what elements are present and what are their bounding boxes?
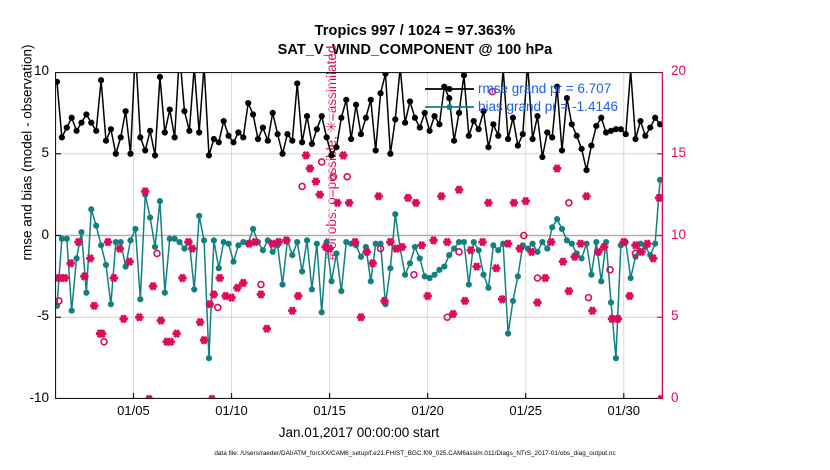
plot-area <box>55 72 663 399</box>
data-point <box>471 118 476 123</box>
obs-assimilated-marker <box>404 194 412 203</box>
data-point <box>295 81 300 86</box>
data-point <box>275 132 280 137</box>
legend-label-bias: bias grand pr = -1.4146 <box>478 99 618 114</box>
data-point <box>505 331 510 336</box>
data-point <box>197 213 202 218</box>
data-point <box>201 238 206 243</box>
data-point <box>182 246 187 251</box>
data-point <box>599 115 604 120</box>
plot-svg <box>55 72 663 399</box>
data-point <box>157 199 162 204</box>
data-point <box>324 135 329 140</box>
data-point <box>133 226 138 231</box>
data-point <box>363 115 368 120</box>
data-point <box>466 133 471 138</box>
obs-assimilated-marker <box>625 292 633 301</box>
data-point <box>452 138 457 143</box>
data-point <box>211 136 216 141</box>
data-point <box>535 114 540 119</box>
obs-assimilated-marker <box>312 177 320 186</box>
data-point <box>447 253 452 258</box>
data-point <box>510 298 515 303</box>
data-point <box>108 302 113 307</box>
obs-possible-marker <box>534 275 540 281</box>
obs-assimilated-marker <box>116 244 124 253</box>
data-point <box>309 141 314 146</box>
obs-assimilated-marker <box>498 295 506 304</box>
obs-assimilated-marker <box>263 324 271 333</box>
x-tick-label: 01/20 <box>398 403 458 418</box>
data-point <box>128 238 133 243</box>
x-tick-label: 01/05 <box>103 403 163 418</box>
data-point <box>486 285 491 290</box>
data-point <box>530 136 535 141</box>
x-tick-label: 01/15 <box>300 403 360 418</box>
data-point <box>280 151 285 156</box>
obs-assimilated-marker <box>251 238 259 247</box>
data-point <box>608 300 613 305</box>
data-point <box>280 282 285 287</box>
data-point <box>432 114 437 119</box>
x-tick-label: 01/30 <box>594 403 654 418</box>
legend-label-rmse: rmse grand pr = 6.707 <box>478 81 611 96</box>
data-point <box>623 132 628 137</box>
legend-marker-sample <box>447 104 453 110</box>
data-point <box>329 153 334 158</box>
obs-assimilated-marker <box>527 247 535 256</box>
data-point <box>594 239 599 244</box>
data-point <box>241 135 246 140</box>
obs-assimilated-marker <box>357 313 365 322</box>
obs-assimilated-marker <box>588 306 596 315</box>
obs-assimilated-marker <box>125 257 133 266</box>
data-point <box>148 215 153 220</box>
data-point <box>368 279 373 284</box>
series-line-bias <box>57 180 660 358</box>
data-point <box>427 275 432 280</box>
data-point <box>628 275 633 280</box>
data-point <box>172 236 177 241</box>
chart-title-line2: SAT_V_WIND_COMPONENT @ 100 hPa <box>0 42 830 58</box>
data-point <box>505 136 510 141</box>
data-point <box>550 135 555 140</box>
data-point <box>618 127 623 132</box>
data-point <box>270 110 275 115</box>
obs-possible-marker <box>585 295 591 301</box>
data-point <box>393 212 398 217</box>
obs-assimilated-marker <box>541 274 549 283</box>
data-point <box>510 115 515 120</box>
data-point <box>206 356 211 361</box>
data-point <box>569 241 574 246</box>
obs-assimilated-marker <box>418 241 426 250</box>
data-point <box>530 241 535 246</box>
data-point <box>339 288 344 293</box>
obs-possible-marker <box>411 272 417 278</box>
data-point <box>496 248 501 253</box>
data-point <box>304 114 309 119</box>
data-point <box>496 133 501 138</box>
data-point <box>236 130 241 135</box>
data-point <box>197 130 202 135</box>
obs-assimilated-marker <box>553 164 561 173</box>
data-point <box>432 272 437 277</box>
data-point <box>246 100 251 105</box>
y2-tick-label: 5 <box>671 308 707 323</box>
data-file-footer: data file: /Users/raeder/DAI/ATM_forcXX/… <box>0 450 830 457</box>
obs-assimilated-marker <box>345 198 353 207</box>
data-point <box>638 118 643 123</box>
data-point <box>260 248 265 253</box>
data-point <box>74 128 79 133</box>
obs-assimilated-marker <box>66 259 74 268</box>
data-point <box>94 223 99 228</box>
obs-assimilated-marker <box>316 190 324 199</box>
data-point <box>437 267 442 272</box>
data-point <box>334 251 339 256</box>
data-point <box>319 310 324 315</box>
obs-assimilated-marker <box>90 301 98 310</box>
y-tick-label: 0 <box>13 227 49 242</box>
data-point <box>255 136 260 141</box>
data-point <box>94 128 99 133</box>
obs-assimilated-marker <box>547 238 555 247</box>
y-tick-label: -5 <box>13 308 49 323</box>
data-point <box>59 135 64 140</box>
obs-assimilated-marker <box>333 198 341 207</box>
figure-root: Tropics 997 / 1024 = 97.363% SAT_V_WIND_… <box>0 0 830 470</box>
data-point <box>378 91 383 96</box>
obs-possible-marker <box>566 200 572 206</box>
obs-assimilated-marker <box>533 298 541 307</box>
obs-possible-marker <box>319 159 325 165</box>
data-point <box>653 241 658 246</box>
data-point <box>89 120 94 125</box>
data-point <box>388 266 393 271</box>
data-point <box>236 243 241 248</box>
data-point <box>422 110 427 115</box>
data-point <box>265 138 270 143</box>
data-point <box>466 282 471 287</box>
y2-tick-label: 10 <box>671 227 707 242</box>
obs-possible-marker <box>215 304 221 310</box>
obs-assimilated-marker <box>461 297 469 306</box>
data-point <box>515 274 520 279</box>
data-point <box>128 151 133 156</box>
obs-assimilated-marker <box>200 336 208 345</box>
data-point <box>69 115 74 120</box>
obs-assimilated-marker <box>288 306 296 315</box>
data-point <box>167 107 172 112</box>
data-point <box>545 130 550 135</box>
data-point <box>216 266 221 271</box>
data-point <box>64 236 69 241</box>
obs-possible-marker <box>456 249 462 255</box>
data-point <box>388 151 393 156</box>
data-point <box>319 114 324 119</box>
data-point <box>476 248 481 253</box>
data-point <box>613 356 618 361</box>
obs-assimilated-marker <box>188 244 196 253</box>
data-point <box>290 253 295 258</box>
data-point <box>250 112 255 117</box>
obs-assimilated-marker <box>210 290 218 299</box>
data-point <box>157 74 162 79</box>
obs-assimilated-marker <box>504 239 512 248</box>
obs-assimilated-marker <box>443 238 451 247</box>
obs-assimilated-marker <box>294 292 302 301</box>
obs-assimilated-marker <box>412 198 420 207</box>
x-tick-label: 01/10 <box>202 403 262 418</box>
y2-tick-label: 15 <box>671 145 707 160</box>
data-point <box>599 279 604 284</box>
obs-assimilated-marker <box>467 246 475 255</box>
data-point <box>300 269 305 274</box>
data-point <box>589 272 594 277</box>
obs-assimilated-marker <box>167 337 175 346</box>
data-point <box>79 120 84 125</box>
data-point <box>285 132 290 137</box>
chart-title-line1: Tropics 997 / 1024 = 97.363% <box>0 23 830 39</box>
data-point <box>309 287 314 292</box>
data-point <box>162 290 167 295</box>
data-point <box>192 287 197 292</box>
data-point <box>491 243 496 248</box>
data-point <box>471 239 476 244</box>
data-point <box>491 122 496 127</box>
data-point <box>545 246 550 251</box>
data-point <box>290 138 295 143</box>
data-point <box>559 148 564 153</box>
data-point <box>407 99 412 104</box>
data-point <box>442 264 447 269</box>
data-point <box>187 128 192 133</box>
data-point <box>226 241 231 246</box>
x-axis-label: Jan.01,2017 00:00:00 start <box>55 425 663 440</box>
data-point <box>113 151 118 156</box>
data-point <box>300 140 305 145</box>
data-point <box>270 249 275 254</box>
obs-assimilated-marker <box>302 151 310 160</box>
obs-assimilated-marker <box>386 238 394 247</box>
obs-assimilated-marker <box>206 300 214 309</box>
obs-assimilated-marker <box>119 315 127 324</box>
obs-assimilated-marker <box>149 282 157 291</box>
data-point <box>84 112 89 117</box>
data-point <box>456 110 461 115</box>
data-point <box>569 122 574 127</box>
data-point <box>108 127 113 132</box>
data-point <box>579 146 584 151</box>
obs-assimilated-marker <box>178 274 186 283</box>
data-point <box>74 256 79 261</box>
obs-possible-marker <box>258 282 264 288</box>
data-point <box>152 244 157 249</box>
data-point <box>79 230 84 235</box>
obs-assimilated-marker <box>104 238 112 247</box>
obs-assimilated-marker <box>559 257 567 266</box>
data-point <box>486 145 491 150</box>
obs-assimilated-marker <box>492 264 500 273</box>
x-tick-label: 01/25 <box>496 403 556 418</box>
y-tick-label: 5 <box>13 145 49 160</box>
y-tick-label: -10 <box>13 390 49 405</box>
data-point <box>226 133 231 138</box>
data-point <box>584 168 589 173</box>
data-point <box>206 153 211 158</box>
y2-tick-label: 0 <box>671 390 707 405</box>
obs-possible-marker <box>331 174 337 180</box>
obs-assimilated-marker <box>257 290 265 299</box>
data-point <box>540 154 545 159</box>
data-point <box>182 109 187 114</box>
data-point <box>520 132 525 137</box>
data-point <box>515 143 520 148</box>
obs-assimilated-marker <box>472 262 480 271</box>
data-point <box>84 290 89 295</box>
obs-assimilated-marker <box>429 236 437 245</box>
data-point <box>653 115 658 120</box>
data-point <box>648 125 653 130</box>
data-point <box>393 117 398 122</box>
data-point <box>69 308 74 313</box>
obs-assimilated-marker <box>655 194 663 203</box>
data-point <box>177 239 182 244</box>
obs-possible-marker <box>154 250 160 256</box>
data-point <box>373 148 378 153</box>
data-point <box>314 127 319 132</box>
obs-assimilated-marker <box>339 151 347 160</box>
data-point <box>407 261 412 266</box>
data-point <box>554 217 559 222</box>
data-point <box>402 272 407 277</box>
data-point <box>260 125 265 130</box>
data-point <box>447 96 452 101</box>
obs-assimilated-marker <box>216 274 224 283</box>
data-point <box>368 97 373 102</box>
data-point <box>231 140 236 145</box>
obs-assimilated-marker <box>233 283 241 292</box>
data-point <box>221 118 226 123</box>
data-point <box>402 120 407 125</box>
y2-tick-label: 20 <box>671 63 707 78</box>
data-point <box>437 122 442 127</box>
obs-assimilated-marker <box>437 192 445 201</box>
data-point <box>417 256 422 261</box>
obs-assimilated-marker <box>510 198 518 207</box>
data-point <box>304 238 309 243</box>
data-point <box>344 97 349 102</box>
obs-assimilated-marker <box>637 247 645 256</box>
data-point <box>564 238 569 243</box>
data-point <box>358 132 363 137</box>
data-point <box>98 243 103 248</box>
data-point <box>231 259 236 264</box>
obs-assimilated-marker <box>172 329 180 338</box>
data-point <box>152 153 157 158</box>
data-point <box>633 136 638 141</box>
obs-assimilated-marker <box>306 164 314 173</box>
obs-assimilated-marker <box>61 274 69 283</box>
obs-assimilated-marker <box>576 239 584 248</box>
data-point <box>103 262 108 267</box>
obs-assimilated-marker <box>631 241 639 250</box>
data-point <box>574 133 579 138</box>
data-point <box>334 145 339 150</box>
obs-possible-marker <box>101 339 107 345</box>
obs-possible-marker <box>299 183 305 189</box>
data-point <box>118 135 123 140</box>
data-point <box>412 115 417 120</box>
data-point <box>550 225 555 230</box>
data-point <box>358 254 363 259</box>
data-point <box>329 279 334 284</box>
data-point <box>118 239 123 244</box>
data-point <box>89 207 94 212</box>
data-point <box>98 78 103 83</box>
obs-assimilated-marker <box>374 192 382 201</box>
data-point <box>589 143 594 148</box>
obs-assimilated-marker <box>565 287 573 296</box>
data-point <box>427 128 432 133</box>
data-point <box>123 109 128 114</box>
data-point <box>295 239 300 244</box>
data-point <box>250 226 255 231</box>
data-point <box>339 115 344 120</box>
y-tick-label: 10 <box>13 63 49 78</box>
data-point <box>103 138 108 143</box>
data-point <box>138 297 143 302</box>
data-point <box>461 239 466 244</box>
obs-assimilated-marker <box>484 198 492 207</box>
data-point <box>314 241 319 246</box>
data-point <box>540 239 545 244</box>
data-point <box>172 135 177 140</box>
data-point <box>353 102 358 107</box>
data-point <box>64 125 69 130</box>
obs-assimilated-marker <box>478 238 486 247</box>
obs-assimilated-marker <box>582 192 590 201</box>
legend-marker-sample <box>447 86 453 92</box>
obs-assimilated-marker <box>86 254 94 263</box>
obs-assimilated-marker <box>196 318 204 327</box>
data-point <box>162 130 167 135</box>
obs-assimilated-marker <box>239 279 247 288</box>
data-point <box>138 135 143 140</box>
data-point <box>461 73 466 78</box>
data-point <box>211 238 216 243</box>
data-point <box>594 123 599 128</box>
obs-assimilated-marker <box>135 313 143 322</box>
data-point <box>417 125 422 130</box>
obs-possible-marker <box>344 174 350 180</box>
data-point <box>481 272 486 277</box>
data-point <box>559 226 564 231</box>
data-point <box>216 140 221 145</box>
data-point <box>643 133 648 138</box>
data-point <box>579 256 584 261</box>
data-point <box>349 136 354 141</box>
data-point <box>412 244 417 249</box>
obs-assimilated-marker <box>455 185 463 194</box>
data-point <box>476 127 481 132</box>
data-point <box>143 148 148 153</box>
data-point <box>148 128 153 133</box>
